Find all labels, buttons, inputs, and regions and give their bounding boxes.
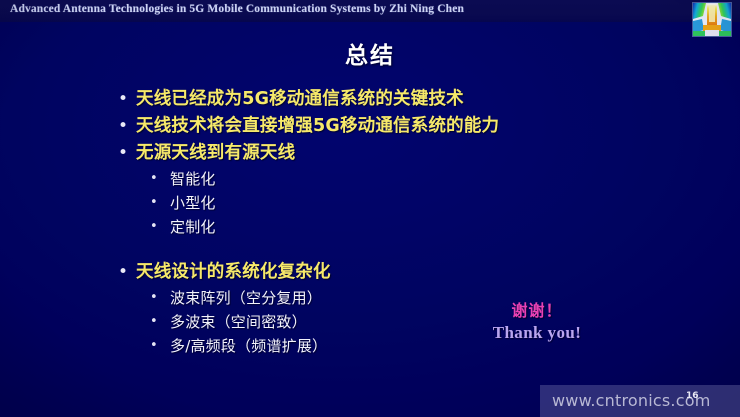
bullet-item-level1: • 天线技术将会直接增强5G移动通信系统的能力 (118, 113, 678, 139)
bullet-text-level2: 多波束（空间密致） (170, 310, 307, 334)
thank-you-block: 谢谢！ Thank you! (462, 300, 612, 344)
bullet-marker-icon: • (150, 167, 170, 191)
bullet-sublist: • 智能化 • 小型化 • 定制化 (150, 167, 678, 239)
bullet-marker-icon: • (150, 215, 170, 239)
bullet-marker-icon: • (118, 113, 136, 139)
bullet-block: • 天线已经成为5G移动通信系统的关键技术 • 天线技术将会直接增强5G移动通信… (118, 86, 678, 239)
bullet-marker-icon: • (150, 334, 170, 358)
em-field-simulation-thumbnail-icon (692, 2, 732, 37)
bullet-marker-icon: • (150, 286, 170, 310)
bullet-marker-icon: • (150, 310, 170, 334)
bullet-marker-icon: • (118, 259, 136, 285)
block-spacer (118, 239, 678, 259)
bullet-text-level2: 智能化 (170, 167, 216, 191)
bullet-item-level2: • 智能化 (150, 167, 678, 191)
em-field-simulation-graphic (693, 3, 731, 36)
presentation-slide: Advanced Antenna Technologies in 5G Mobi… (0, 0, 740, 417)
bullet-text-level1: 天线已经成为5G移动通信系统的关键技术 (136, 86, 464, 112)
bullet-marker-icon: • (118, 140, 136, 166)
slide-title: 总结 (0, 36, 740, 70)
thank-you-english: Thank you! (462, 322, 612, 344)
presentation-header-title: Advanced Antenna Technologies in 5G Mobi… (10, 3, 464, 15)
bullet-text-level2: 定制化 (170, 215, 216, 239)
slide-page-number: 16 (686, 391, 699, 401)
bullet-text-level1: 天线设计的系统化复杂化 (136, 259, 331, 285)
bullet-item-level2: • 小型化 (150, 191, 678, 215)
bullet-text-level1: 无源天线到有源天线 (136, 140, 295, 166)
bullet-item-level2: • 定制化 (150, 215, 678, 239)
bullet-item-level1: • 天线已经成为5G移动通信系统的关键技术 (118, 86, 678, 112)
bullet-text-level1: 天线技术将会直接增强5G移动通信系统的能力 (136, 113, 499, 139)
bullet-text-level2: 多/高频段（频谱扩展） (170, 334, 327, 358)
thank-you-chinese: 谢谢！ (462, 300, 612, 322)
bullet-marker-icon: • (150, 191, 170, 215)
bullet-item-level1: • 天线设计的系统化复杂化 (118, 259, 678, 285)
bullet-text-level2: 波束阵列（空分复用） (170, 286, 322, 310)
bullet-marker-icon: • (118, 86, 136, 112)
bullet-text-level2: 小型化 (170, 191, 216, 215)
bullet-item-level1: • 无源天线到有源天线 (118, 140, 678, 166)
